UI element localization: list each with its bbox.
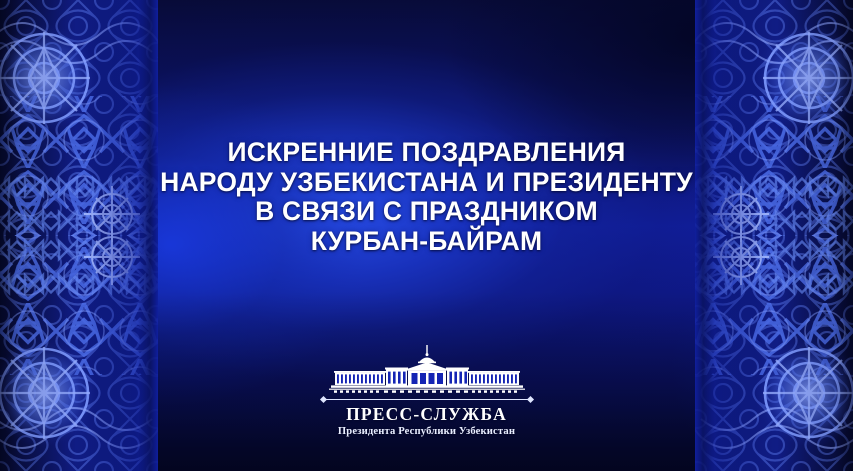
announcement-slide: ИСКРЕННИЕ ПОЗДРАВЛЕНИЯ НАРОДУ УЗБЕКИСТАН… xyxy=(0,0,853,471)
headline-line-2: НАРОДУ УЗБЕКИСТАНА И ПРЕЗИДЕНТУ xyxy=(26,168,827,198)
divider-right-diamond-icon xyxy=(526,396,533,403)
headline-line-4: КУРБАН-БАЙРАМ xyxy=(26,227,827,257)
divider-bar xyxy=(326,399,528,400)
headline-block: ИСКРЕННИЕ ПОЗДРАВЛЕНИЯ НАРОДУ УЗБЕКИСТАН… xyxy=(0,138,853,256)
press-service-subtitle: Президента Республики Узбекистан xyxy=(307,425,547,438)
press-service-title: ПРЕСС-СЛУЖБА xyxy=(307,405,547,424)
palace-building-wrap xyxy=(307,345,547,395)
oqsaroy-palace-building-icon xyxy=(307,345,547,395)
headline-line-1: ИСКРЕННИЕ ПОЗДРАВЛЕНИЯ xyxy=(26,138,827,168)
headline-line-3: В СВЯЗИ С ПРАЗДНИКОМ xyxy=(26,197,827,227)
emblem-divider-rule xyxy=(321,396,533,403)
press-service-emblem: ПРЕСС-СЛУЖБА Президента Республики Узбек… xyxy=(307,345,547,438)
